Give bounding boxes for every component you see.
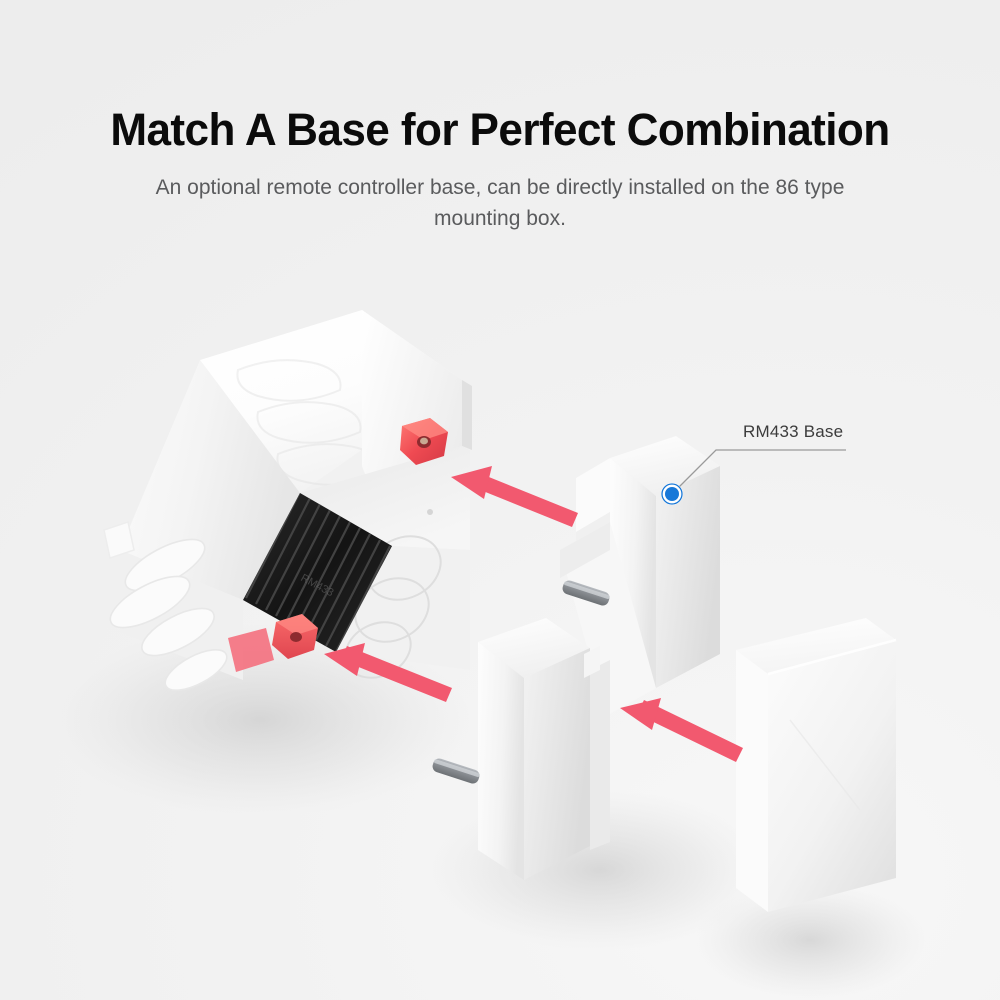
product-photo: RM433	[0, 250, 1000, 1000]
product-marketing-image: Match A Base for Perfect Combination An …	[0, 0, 1000, 1000]
page-subtitle: An optional remote controller base, can …	[140, 172, 860, 234]
callout-dot	[665, 487, 679, 501]
remote-faceplate	[736, 618, 896, 912]
faceplate-front	[736, 650, 768, 912]
base-post-left-front	[478, 642, 524, 880]
box-interior-screw-hole	[427, 509, 433, 515]
callout-label-rm433-base: RM433 Base	[743, 422, 843, 442]
arrow-faceplate-to-base	[620, 698, 743, 762]
box-right-rim-edge	[462, 380, 472, 450]
base-inner-rib	[590, 660, 610, 850]
faceplate-face	[768, 640, 896, 912]
page-title: Match A Base for Perfect Combination	[10, 104, 990, 156]
mounting-screw-bottom	[431, 757, 481, 785]
base-post-left-side	[524, 648, 590, 880]
mounting-box-86-type: RM433	[103, 310, 472, 698]
arrow-top-terminal	[451, 466, 578, 527]
